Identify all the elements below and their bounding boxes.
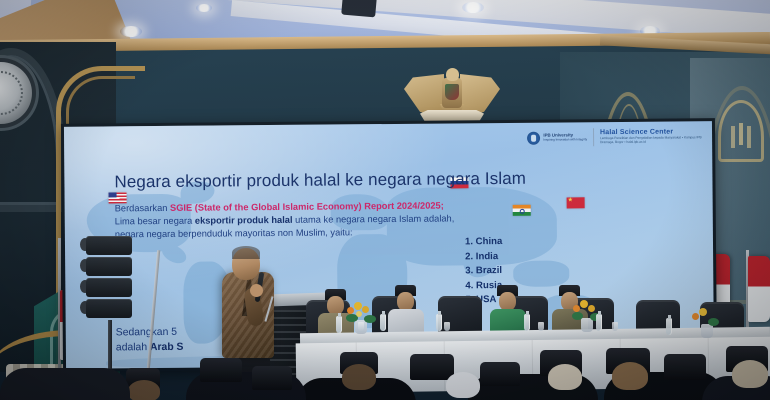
ipb-university-logo: IPB University Inspiring Innovation with… bbox=[527, 131, 587, 145]
list-item: 1. China bbox=[465, 235, 502, 250]
ceiling-projector bbox=[341, 0, 377, 17]
water-bottle bbox=[380, 314, 386, 331]
flower-bloom bbox=[699, 308, 707, 316]
slide-title: Negara eksportir produk halal ke negara … bbox=[114, 169, 526, 193]
downlight bbox=[462, 2, 484, 13]
flower-bloom bbox=[356, 311, 362, 317]
body-line-2-bold: eksportir produk halal bbox=[195, 215, 293, 226]
flower-bloom bbox=[573, 305, 580, 312]
list-item: 3. Brazil bbox=[465, 264, 502, 279]
ipb-emblem-icon bbox=[527, 131, 540, 144]
drinking-glass bbox=[612, 322, 618, 331]
flower-bloom bbox=[362, 306, 369, 313]
presenter-hand bbox=[250, 284, 263, 297]
foliage bbox=[708, 318, 719, 326]
audience-peci-cap bbox=[410, 354, 454, 380]
downlight bbox=[196, 4, 212, 12]
speaker-box bbox=[86, 278, 132, 297]
indonesian-flag bbox=[748, 256, 770, 322]
garuda-head bbox=[446, 68, 459, 81]
audience-head bbox=[342, 364, 376, 390]
flower-bloom bbox=[580, 300, 588, 308]
audience-head bbox=[446, 372, 480, 398]
body-line-2-pre: Lima besar negara bbox=[115, 216, 195, 227]
conference-photo: IPB University Inspiring Innovation with… bbox=[0, 0, 770, 400]
garuda-shield bbox=[445, 84, 459, 100]
hsc-subtitle: Lembaga Penelitian dan Pengabdian kepada… bbox=[600, 137, 704, 146]
china-flag bbox=[567, 197, 585, 208]
list-item: 2. India bbox=[465, 250, 502, 265]
flower-bloom bbox=[354, 302, 362, 310]
audience-head bbox=[732, 360, 768, 388]
body-line-2-post: utama ke negara negara Islam adalah, bbox=[292, 214, 454, 225]
logo-divider bbox=[593, 128, 594, 146]
water-bottle bbox=[524, 314, 530, 331]
flower-bloom bbox=[347, 307, 354, 314]
water-bottle bbox=[666, 318, 672, 335]
water-bottle bbox=[436, 314, 442, 331]
halal-science-center-logo: Halal Science Center Lembaga Penelitian … bbox=[600, 128, 704, 145]
audience-peci-cap bbox=[480, 362, 520, 386]
landmass-central-america bbox=[159, 241, 189, 267]
footer-line-2-pre: adalah bbox=[116, 342, 150, 353]
speaker-box bbox=[86, 299, 132, 318]
line-array-speaker bbox=[86, 236, 132, 322]
vase bbox=[701, 324, 713, 338]
india-flag bbox=[513, 205, 531, 216]
audience-head bbox=[612, 362, 648, 390]
downlight bbox=[120, 26, 142, 37]
drinking-glass bbox=[358, 322, 364, 331]
presenter-hair bbox=[232, 246, 260, 259]
flower-arrangement bbox=[690, 306, 724, 336]
audience-head bbox=[548, 364, 582, 390]
audience-peci-cap bbox=[252, 366, 292, 390]
speaker-box bbox=[86, 257, 132, 276]
foliage bbox=[572, 312, 583, 320]
audience-peci-cap bbox=[664, 354, 706, 380]
drinking-glass bbox=[444, 322, 450, 331]
flower-bloom bbox=[692, 313, 699, 320]
landmass-southeast-asia bbox=[513, 260, 569, 286]
audience-shoulders bbox=[0, 368, 130, 400]
ipb-logo-line-2: Inspiring Innovation with Integrity bbox=[543, 138, 587, 142]
body-line-1-pre: Berdasarkan bbox=[115, 203, 170, 213]
foliage bbox=[364, 315, 376, 323]
body-line-1-highlight: SGIE (State of the Global Islamic Econom… bbox=[170, 201, 444, 213]
slide-header-logos: IPB University Inspiring Innovation with… bbox=[527, 127, 704, 147]
flower-bloom bbox=[588, 305, 595, 312]
speaker-box bbox=[86, 236, 132, 255]
audience-head bbox=[128, 380, 160, 400]
water-bottle bbox=[596, 314, 602, 331]
slide-body-text: Berdasarkan SGIE (State of the Global Is… bbox=[115, 199, 455, 242]
drinking-glass bbox=[538, 322, 544, 331]
ipb-logo-text: IPB University Inspiring Innovation with… bbox=[543, 133, 587, 143]
audience-peci-cap bbox=[200, 358, 242, 382]
water-bottle bbox=[336, 316, 342, 333]
footer-line-2-bold: Arab S bbox=[150, 342, 184, 353]
